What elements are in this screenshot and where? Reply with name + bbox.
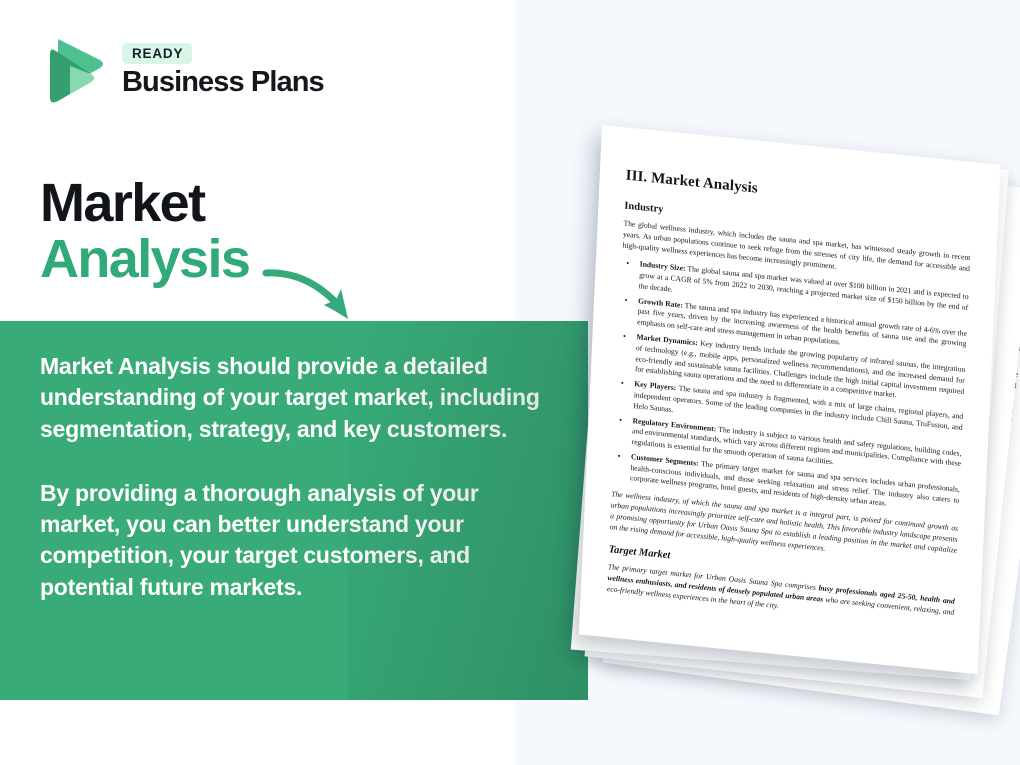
ready-badge: READY — [122, 43, 192, 65]
document-page-front[interactable]: III. Market Analysis Industry The global… — [579, 125, 1001, 674]
curved-arrow-down-right-icon — [262, 263, 372, 325]
panel-paragraph-2: By providing a thorough analysis of your… — [40, 478, 552, 603]
green-description-panel: Market Analysis should provide a detaile… — [0, 321, 588, 700]
doc-industry-bullets: Industry Size: The global sauna and spa … — [628, 259, 969, 517]
panel-paragraph-1: Market Analysis should provide a detaile… — [40, 351, 552, 445]
page-title-line-1: Market — [40, 176, 249, 230]
brand-wordmark: READY Business Plans — [122, 43, 324, 98]
brand-logo[interactable]: READY Business Plans — [42, 34, 324, 106]
document-stack[interactable]: III. Market Analysis Industry The global… — [520, 105, 1020, 685]
brand-name: Business Plans — [122, 67, 324, 97]
double-play-triangle-logo-icon — [42, 34, 108, 106]
page-title-line-2: Analysis — [40, 232, 249, 286]
page-title: Market Analysis — [40, 176, 249, 286]
slide-canvas: READY Business Plans Market Analysis Mar… — [0, 0, 1020, 765]
panel-copy: Market Analysis should provide a detaile… — [40, 351, 552, 603]
